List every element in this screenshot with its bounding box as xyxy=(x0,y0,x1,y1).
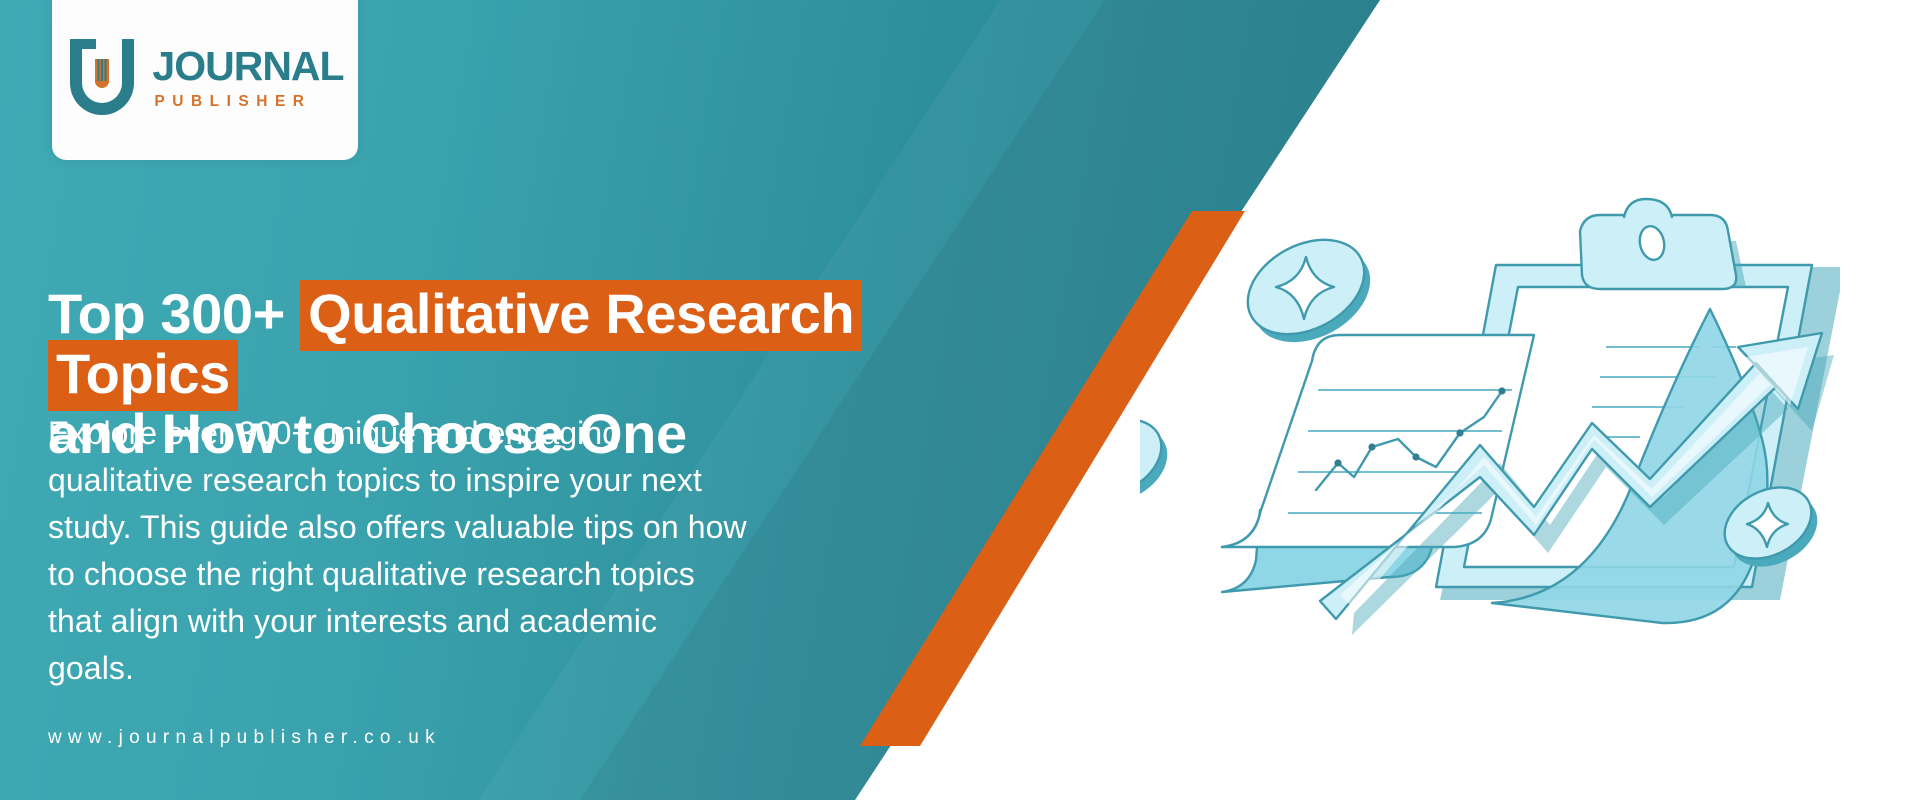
page-description: Explore over 300+ unique and engaging qu… xyxy=(48,410,748,692)
logo-lockup: JOURNAL PUBLISHER xyxy=(66,37,343,120)
promo-banner: JOURNAL PUBLISHER Top 300+ Qualitative R… xyxy=(0,0,1920,800)
headline-line-1: Top 300+ Qualitative Research Topics xyxy=(48,284,1048,404)
logo-journal-text: JOURNAL xyxy=(152,46,343,87)
logo-wordmark: JOURNAL PUBLISHER xyxy=(152,46,343,110)
journal-j-bookmark-icon xyxy=(66,37,138,120)
headline-plain-text: Top 300+ xyxy=(48,282,300,345)
coin-sparkle-icon xyxy=(1140,404,1180,517)
clipboard-growth-chart-illustration: .st { fill:none; stroke:#3f9aae; stroke-… xyxy=(1140,195,1840,635)
logo-publisher-text: PUBLISHER xyxy=(154,94,311,110)
website-url[interactable]: www.journalpublisher.co.uk xyxy=(48,727,441,749)
logo-card[interactable]: JOURNAL PUBLISHER xyxy=(52,0,358,160)
